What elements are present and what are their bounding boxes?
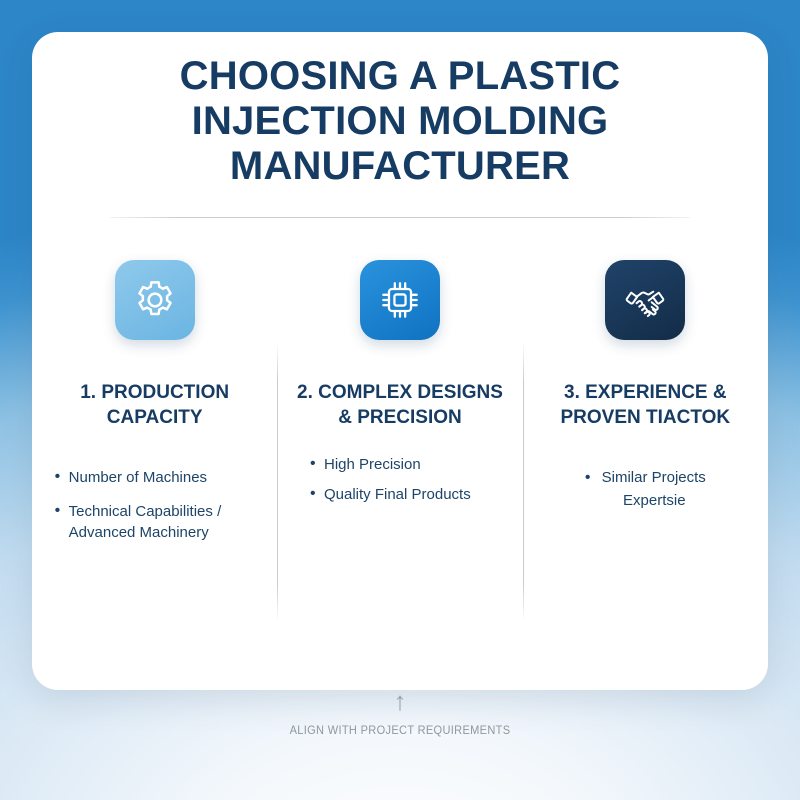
bullet-list-3: Similar Projects Expertsie bbox=[570, 467, 720, 511]
icon-tile-2 bbox=[360, 260, 440, 340]
bullet-item: Number of Machines bbox=[55, 467, 255, 488]
footer-caption: ALIGN WITH PROJECT REQUIREMENTS bbox=[32, 723, 768, 737]
column-experience: 3. EXPERIENCE & PROVEN TIACTOK Similar P… bbox=[523, 247, 768, 647]
bullet-list-1: Number of Machines Technical Capabilitie… bbox=[55, 467, 255, 543]
content-card: CHOOSING A PLASTIC INJECTION MOLDING MAN… bbox=[32, 32, 768, 690]
title-line-1: CHOOSING A PLASTIC bbox=[32, 54, 768, 99]
up-arrow-icon: ↑ bbox=[0, 688, 800, 714]
column-production-capacity: 1. PRODUCTION CAPACITY Number of Machine… bbox=[32, 247, 277, 647]
icon-tile-3 bbox=[605, 260, 685, 340]
infographic-canvas: CHOOSING A PLASTIC INJECTION MOLDING MAN… bbox=[0, 0, 800, 800]
microchip-icon bbox=[377, 277, 423, 323]
bullet-item: Similar Projects Expertsie bbox=[570, 467, 720, 511]
bullet-list-2: High Precision Quality Final Products bbox=[310, 454, 490, 505]
column-heading-1: 1. PRODUCTION CAPACITY bbox=[47, 381, 262, 430]
column-heading-2: 2. COMPLEX DESIGNS & PRECISION bbox=[292, 381, 507, 430]
bullet-line-1: Similar Projects bbox=[602, 469, 706, 486]
title-divider bbox=[110, 217, 690, 218]
bullet-line-2: Expertsie bbox=[570, 490, 720, 511]
footer: ↑ ALIGN WITH PROJECT REQUIREMENTS bbox=[0, 688, 800, 737]
title-line-2: INJECTION MOLDING bbox=[32, 99, 768, 144]
column-heading-3: 3. EXPERIENCE & PROVEN TIACTOK bbox=[538, 381, 753, 430]
icon-tile-1 bbox=[115, 260, 195, 340]
title-line-3: MANUFACTURER bbox=[32, 144, 768, 189]
gear-icon bbox=[132, 277, 178, 323]
page-title: CHOOSING A PLASTIC INJECTION MOLDING MAN… bbox=[32, 54, 768, 188]
column-complex-designs: 2. COMPLEX DESIGNS & PRECISION High Prec… bbox=[277, 247, 522, 647]
columns-container: 1. PRODUCTION CAPACITY Number of Machine… bbox=[32, 247, 768, 647]
bullet-item: Technical Capabilities / Advanced Machin… bbox=[55, 501, 255, 544]
bullet-item: Quality Final Products bbox=[310, 484, 490, 505]
bullet-item: High Precision bbox=[310, 454, 490, 475]
handshake-icon bbox=[622, 277, 668, 323]
